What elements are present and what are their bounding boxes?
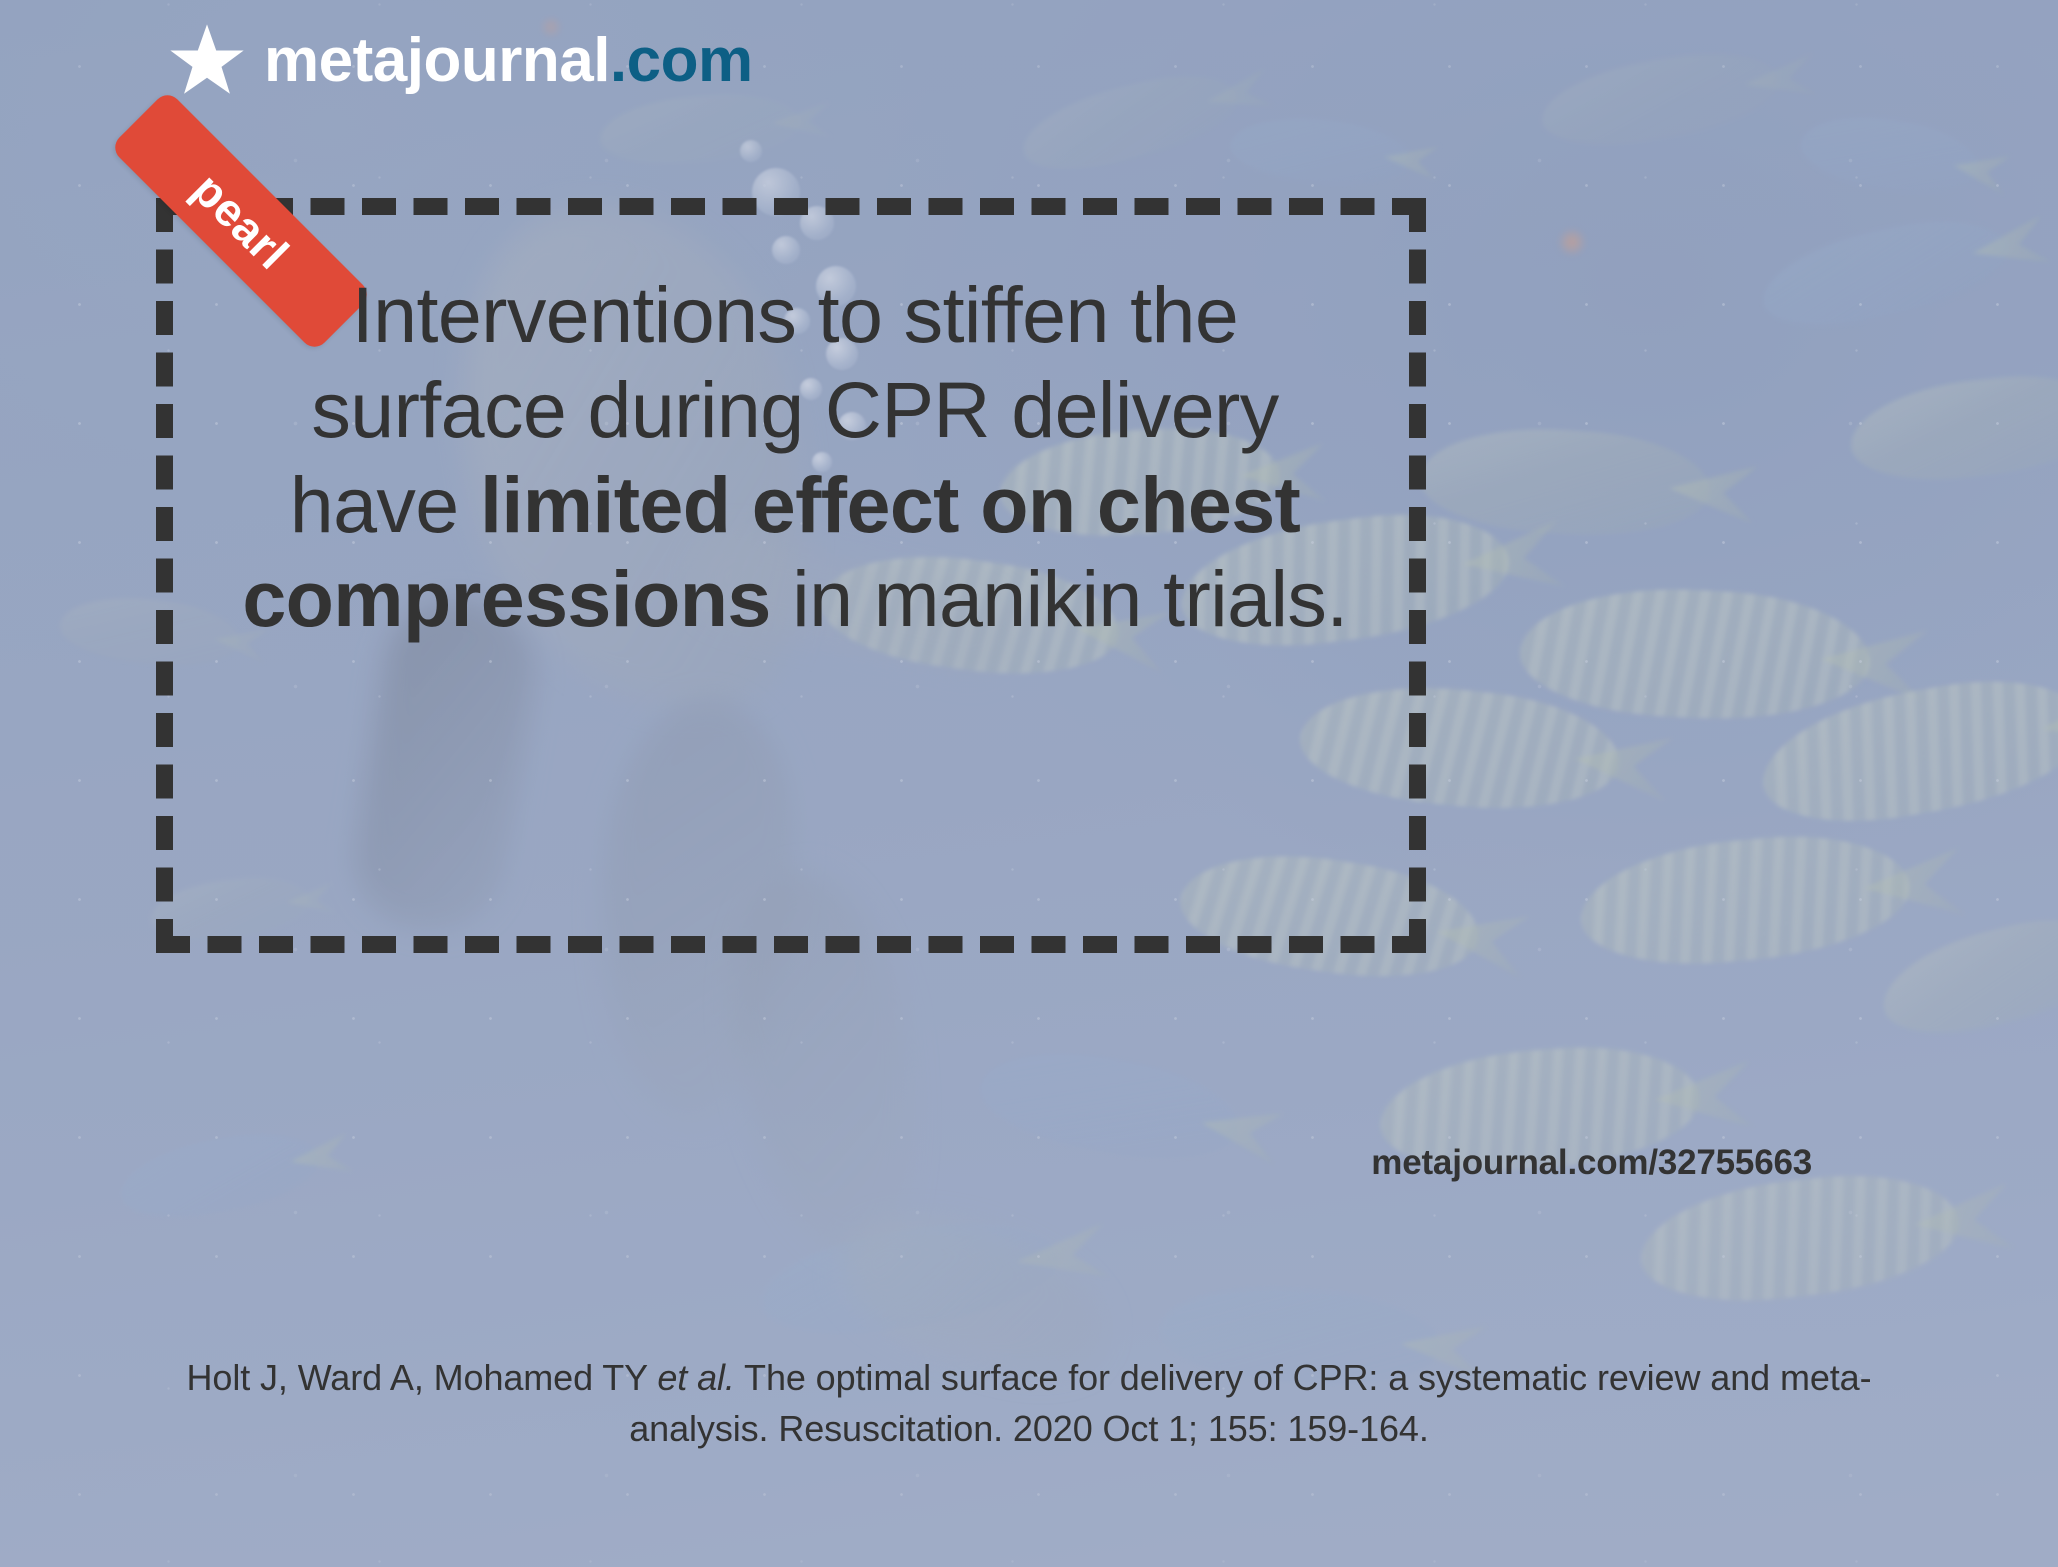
brand-logo[interactable]: metajournal.com <box>168 22 753 100</box>
citation-et-al: et al. <box>657 1357 734 1398</box>
short-url-label[interactable]: metajournal.com/32755663 <box>1371 1143 1812 1183</box>
citation-authors: Holt J, Ward A, Mohamed TY <box>187 1357 658 1398</box>
citation-text: Holt J, Ward A, Mohamed TY et al. The op… <box>169 1352 1889 1454</box>
brand-tld: .com <box>610 26 753 95</box>
star-icon <box>168 22 246 100</box>
brand-name: metajournal <box>264 26 610 95</box>
quote-suffix: in manikin trials. <box>771 554 1348 643</box>
brand-wordmark: metajournal.com <box>264 30 753 92</box>
citation-reference: The optimal surface for delivery of CPR:… <box>629 1357 1871 1449</box>
pearl-quote-text: Interventions to stiffen the surface dur… <box>230 268 1360 647</box>
